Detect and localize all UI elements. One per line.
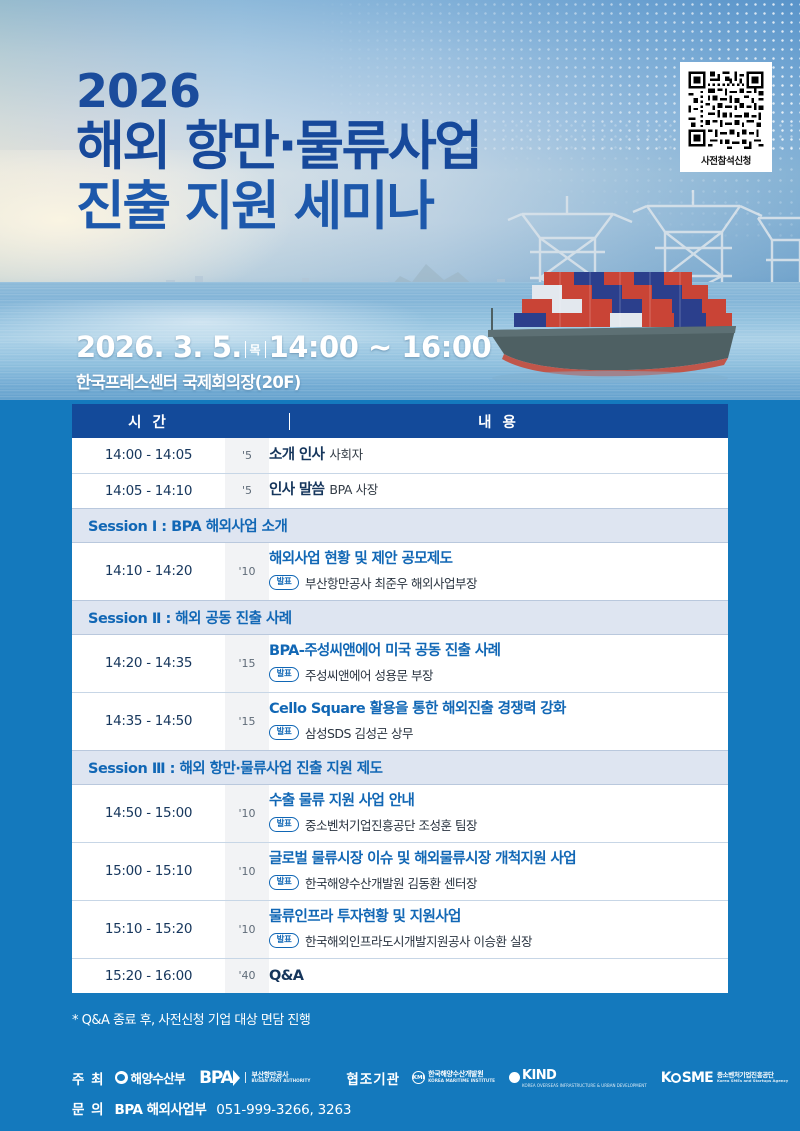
- contact-row: 문 의 BPA 해외사업부 051-999-3266, 3263: [72, 1098, 351, 1118]
- logo-bpa: BPA 부산항만공사 BUSAN PORT AUTHORITY: [199, 1068, 310, 1088]
- agenda-table-header: 시 간 내 용: [72, 404, 728, 438]
- agenda-topic-text: 해외사업 현황 및 제안 공모제도: [269, 551, 452, 567]
- kosme-full-en: Korea SMEs and Startups Agency: [717, 1079, 788, 1083]
- agenda-duration: '15: [225, 692, 269, 750]
- agenda-topic: 물류인프라 투자현황 및 지원사업: [269, 908, 728, 926]
- kmi-mark-icon: KMI: [412, 1071, 425, 1084]
- agenda-duration: '40: [225, 958, 269, 993]
- event-year: 2026: [76, 68, 636, 114]
- agenda-time: 14:20 - 14:35: [72, 634, 225, 692]
- mof-label: 해양수산부: [131, 1068, 186, 1087]
- agenda-table-body: 14:00 - 14:05'5소개 인사사회자14:05 - 14:10'5인사…: [72, 438, 728, 993]
- bpa-sub-en: BUSAN PORT AUTHORITY: [251, 1079, 310, 1083]
- presentation-badge: 발표: [269, 933, 299, 948]
- agenda-topic-text: Cello Square 활용을 통한 해외진출 경쟁력 강화: [269, 701, 566, 717]
- agenda-content: 해외사업 현황 및 제안 공모제도발표부산항만공사 최준우 해외사업부장: [269, 542, 728, 600]
- agenda-time: 14:35 - 14:50: [72, 692, 225, 750]
- column-header-content: 내 용: [269, 404, 728, 438]
- logo-kmi: KMI 한국해양수산개발원 KOREA MARITIME INSTITUTE: [412, 1071, 495, 1084]
- agenda-speaker-name: 주성씨앤에어 성용문 부장: [305, 665, 433, 684]
- presentation-badge: 발표: [269, 817, 299, 832]
- agenda-speaker-line: 발표한국해양수산개발원 김동환 센터장: [269, 873, 728, 892]
- title-block: 2026 해외 항만·물류사업 진출 지원 세미나: [76, 68, 636, 238]
- cohost-label: 협조기관: [346, 1068, 400, 1088]
- agenda-duration: '5: [225, 438, 269, 473]
- agenda-item-row: 14:10 - 14:20'10해외사업 현황 및 제안 공모제도발표부산항만공…: [72, 542, 728, 600]
- agenda-session-row: Session Ⅰ : BPA 해외사업 소개: [72, 508, 728, 542]
- agenda-speaker-name: 삼성SDS 김성곤 상무: [305, 723, 413, 742]
- agenda-item-row: 14:05 - 14:10'5인사 말씀BPA 사장: [72, 473, 728, 508]
- presentation-badge: 발표: [269, 725, 299, 740]
- agenda-time: 15:20 - 16:00: [72, 958, 225, 993]
- qr-registration-box[interactable]: 사전참석신청: [680, 62, 772, 172]
- agenda-speaker-name: 중소벤처기업진흥공단 조성훈 팀장: [305, 815, 477, 834]
- agenda-topic-text: 인사 말씀: [269, 482, 324, 498]
- agenda-inline-subtext: 사회자: [329, 447, 362, 462]
- session-title: Session Ⅱ : 해외 공동 진출 사례: [72, 607, 728, 628]
- agenda-speaker-name: 한국해외인프라도시개발지원공사 이승환 실장: [305, 931, 532, 950]
- kmi-full-en: KOREA MARITIME INSTITUTE: [428, 1079, 495, 1084]
- agenda-topic: 인사 말씀BPA 사장: [269, 481, 728, 499]
- presentation-badge: 발표: [269, 667, 299, 682]
- agenda-time: 15:10 - 15:20: [72, 900, 225, 958]
- agenda-table: 시 간 내 용 14:00 - 14:05'5소개 인사사회자14:05 - 1…: [72, 404, 728, 993]
- agenda-topic: 글로벌 물류시장 이슈 및 해외물류시장 개척지원 사업: [269, 850, 728, 868]
- agenda-item-row: 15:20 - 16:00'40Q&A: [72, 958, 728, 993]
- agenda-topic: 수출 물류 지원 사업 안내: [269, 792, 728, 810]
- container-ship-illustration: [470, 238, 800, 383]
- event-time-range: 14:00 ~ 16:00: [269, 330, 492, 364]
- agenda-table-wrap: 시 간 내 용 14:00 - 14:05'5소개 인사사회자14:05 - 1…: [72, 404, 728, 993]
- kosme-label: KSME: [661, 1070, 713, 1086]
- event-venue: 한국프레스센터 국제회의장(20F): [76, 369, 301, 393]
- contact-department: BPA 해외사업부: [115, 1098, 207, 1118]
- agenda-content: 인사 말씀BPA 사장: [269, 473, 728, 508]
- agenda-speaker-line: 발표중소벤처기업진흥공단 조성훈 팀장: [269, 815, 728, 834]
- agenda-topic: 소개 인사사회자: [269, 446, 728, 464]
- agenda-speaker-line: 발표삼성SDS 김성곤 상무: [269, 723, 728, 742]
- agenda-topic: 해외사업 현황 및 제안 공모제도: [269, 550, 728, 568]
- agenda-duration: '10: [225, 900, 269, 958]
- agenda-topic: BPA-주성씨앤에어 미국 공동 진출 사례: [269, 642, 728, 660]
- agenda-item-row: 14:35 - 14:50'15Cello Square 활용을 통한 해외진출…: [72, 692, 728, 750]
- agenda-topic-text: 글로벌 물류시장 이슈 및 해외물류시장 개척지원 사업: [269, 851, 576, 867]
- agenda-topic-text: 수출 물류 지원 사업 안내: [269, 793, 414, 809]
- session-cell: Session Ⅰ : BPA 해외사업 소개: [72, 508, 728, 542]
- agenda-item-row: 14:00 - 14:05'5소개 인사사회자: [72, 438, 728, 473]
- session-title: Session Ⅰ : BPA 해외사업 소개: [72, 515, 728, 536]
- agenda-duration: '10: [225, 842, 269, 900]
- agenda-time: 14:50 - 15:00: [72, 784, 225, 842]
- agenda-session-row: Session Ⅱ : 해외 공동 진출 사례: [72, 600, 728, 634]
- logo-ministry-of-oceans-and-fisheries: 해양수산부: [115, 1068, 186, 1087]
- agenda-topic-text: 물류인프라 투자현황 및 지원사업: [269, 909, 461, 925]
- agenda-duration: '15: [225, 634, 269, 692]
- agenda-content: BPA-주성씨앤에어 미국 공동 진출 사례발표주성씨앤에어 성용문 부장: [269, 634, 728, 692]
- agenda-topic: Cello Square 활용을 통한 해외진출 경쟁력 강화: [269, 700, 728, 718]
- bpa-sublabel: 부산항만공사 BUSAN PORT AUTHORITY: [245, 1072, 310, 1084]
- agenda-speaker-line: 발표부산항만공사 최준우 해외사업부장: [269, 573, 728, 592]
- poster-root: 사전참석신청 2026 해외 항만·물류사업 진출 지원 세미나 2026. 3…: [0, 0, 800, 1131]
- event-date: 2026. 3. 5.: [76, 330, 242, 364]
- agenda-duration: '5: [225, 473, 269, 508]
- sponsor-row: 주 최 해양수산부 BPA 부산항만공사 BUSAN PORT AUTHORIT…: [72, 1065, 800, 1090]
- column-header-time: 시 간: [72, 404, 225, 438]
- agenda-item-row: 15:10 - 15:20'10물류인프라 투자현황 및 지원사업발표한국해외인…: [72, 900, 728, 958]
- agenda-time: 15:00 - 15:10: [72, 842, 225, 900]
- column-divider: [225, 404, 269, 438]
- kind-full-en: KOREA OVERSEAS INFRASTRUCTURE & URBAN DE…: [522, 1083, 647, 1088]
- agenda-time: 14:10 - 14:20: [72, 542, 225, 600]
- agenda-content: 소개 인사사회자: [269, 438, 728, 473]
- agenda-topic: Q&A: [269, 967, 728, 985]
- agenda-topic-text: Q&A: [269, 968, 303, 984]
- kind-mark-icon: [509, 1072, 520, 1083]
- presentation-badge: 발표: [269, 875, 299, 890]
- agenda-topic-text: BPA-주성씨앤에어 미국 공동 진출 사례: [269, 643, 500, 659]
- qr-code-icon[interactable]: [686, 69, 766, 149]
- event-title-line1: 해외 항만·물류사업: [76, 117, 636, 177]
- bpa-triangle-icon: [233, 1070, 240, 1086]
- session-title: Session Ⅲ : 해외 항만·물류사업 진출 지원 제도: [72, 757, 728, 778]
- kind-label: KIND: [522, 1068, 556, 1083]
- agenda-item-row: 15:00 - 15:10'10글로벌 물류시장 이슈 및 해외물류시장 개척지…: [72, 842, 728, 900]
- agenda-time: 14:00 - 14:05: [72, 438, 225, 473]
- agenda-speaker-name: 부산항만공사 최준우 해외사업부장: [305, 573, 477, 592]
- contact-label: 문 의: [72, 1098, 105, 1118]
- agenda-item-row: 14:20 - 14:35'15BPA-주성씨앤에어 미국 공동 진출 사례발표…: [72, 634, 728, 692]
- contact-phone: 051-999-3266, 3263: [216, 1102, 351, 1118]
- kmi-text: 한국해양수산개발원 KOREA MARITIME INSTITUTE: [428, 1071, 495, 1083]
- host-label: 주 최: [72, 1068, 105, 1088]
- agenda-time: 14:05 - 14:10: [72, 473, 225, 508]
- agenda-duration: '10: [225, 542, 269, 600]
- event-title-line2: 진출 지원 세미나: [76, 177, 636, 238]
- bpa-label: BPA: [199, 1068, 232, 1088]
- agenda-topic-text: 소개 인사: [269, 447, 324, 463]
- agenda-inline-subtext: BPA 사장: [329, 482, 377, 497]
- kosme-sub: 중소벤처기업진흥공단 Korea SMEs and Startups Agenc…: [717, 1072, 788, 1083]
- agenda-item-row: 14:50 - 15:00'10수출 물류 지원 사업 안내발표중소벤처기업진흥…: [72, 784, 728, 842]
- session-cell: Session Ⅱ : 해외 공동 진출 사례: [72, 600, 728, 634]
- event-datetime: 2026. 3. 5. 목 14:00 ~ 16:00: [76, 330, 491, 364]
- agenda-content: 물류인프라 투자현황 및 지원사업발표한국해외인프라도시개발지원공사 이승환 실…: [269, 900, 728, 958]
- agenda-speaker-line: 발표한국해외인프라도시개발지원공사 이승환 실장: [269, 931, 728, 950]
- mof-mark-icon: [115, 1071, 128, 1084]
- event-day-of-week: 목: [245, 341, 266, 358]
- agenda-content: Q&A: [269, 958, 728, 993]
- logo-kosme: KSME 중소벤처기업진흥공단 Korea SMEs and Startups …: [661, 1070, 789, 1086]
- agenda-content: 수출 물류 지원 사업 안내발표중소벤처기업진흥공단 조성훈 팀장: [269, 784, 728, 842]
- agenda-footnote: * Q&A 종료 후, 사전신청 기업 대상 면담 진행: [72, 1009, 310, 1028]
- kosme-o-icon: [671, 1073, 681, 1083]
- agenda-content: Cello Square 활용을 통한 해외진출 경쟁력 강화발표삼성SDS 김…: [269, 692, 728, 750]
- qr-caption: 사전참석신청: [686, 153, 766, 167]
- kind-text: KIND KOREA OVERSEAS INFRASTRUCTURE & URB…: [522, 1068, 647, 1088]
- presentation-badge: 발표: [269, 575, 299, 590]
- logo-kind: KIND KOREA OVERSEAS INFRASTRUCTURE & URB…: [509, 1068, 647, 1088]
- agenda-content: 글로벌 물류시장 이슈 및 해외물류시장 개척지원 사업발표한국해양수산개발원 …: [269, 842, 728, 900]
- session-cell: Session Ⅲ : 해외 항만·물류사업 진출 지원 제도: [72, 750, 728, 784]
- agenda-session-row: Session Ⅲ : 해외 항만·물류사업 진출 지원 제도: [72, 750, 728, 784]
- agenda-speaker-line: 발표주성씨앤에어 성용문 부장: [269, 665, 728, 684]
- agenda-duration: '10: [225, 784, 269, 842]
- agenda-speaker-name: 한국해양수산개발원 김동환 센터장: [305, 873, 477, 892]
